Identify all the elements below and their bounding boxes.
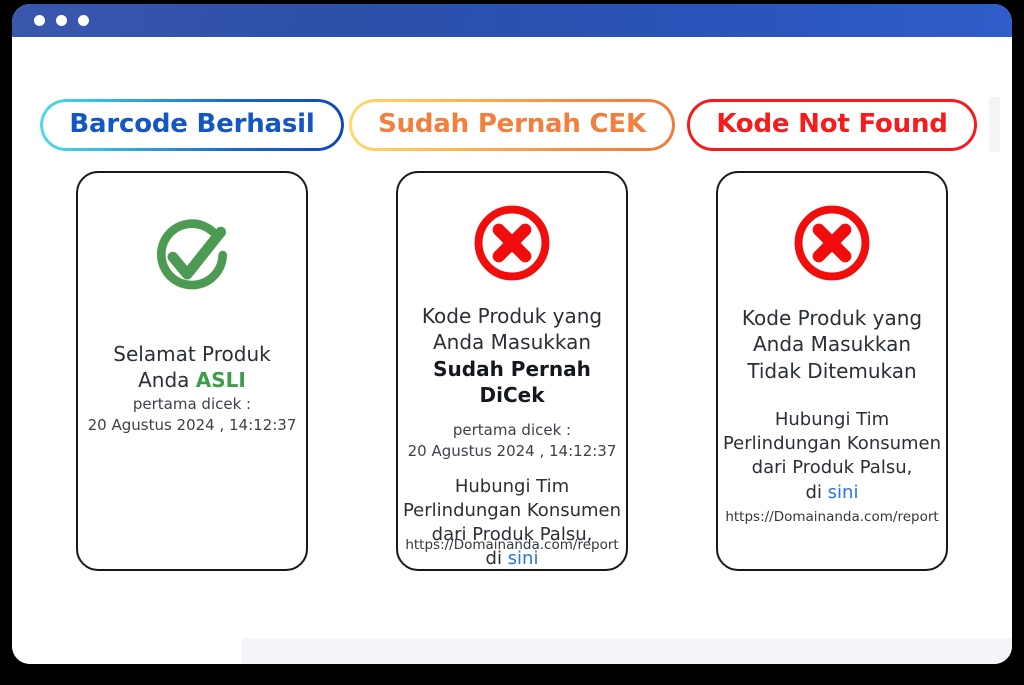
headline-line-1: Kode Produk yang	[398, 303, 626, 329]
status-pill-kode-not-found[interactable]: Kode Not Found	[687, 99, 976, 151]
browser-titlebar	[12, 4, 1012, 37]
first-checked-block: pertama dicek : 20 Agustus 2024 , 14:12:…	[88, 394, 297, 437]
contact-line-1: Hubungi Tim	[403, 475, 621, 499]
contact-line-2: Perlindungan Konsumen	[723, 432, 941, 456]
headline-line-3-bold: Sudah Pernah DiCek	[398, 356, 626, 409]
contact-line-1: Hubungi Tim	[723, 408, 941, 432]
check-circle-icon	[144, 209, 240, 309]
report-link-sini[interactable]: sini	[828, 482, 859, 503]
first-checked-value: 20 Agustus 2024 , 14:12:37	[408, 441, 617, 462]
contact-line-3: dari Produk Palsu,	[723, 456, 941, 480]
contact-line-2: Perlindungan Konsumen	[403, 499, 621, 523]
headline-line-2-prefix: Anda	[138, 368, 196, 392]
headline-line-1: Selamat Produk	[113, 341, 270, 367]
status-card-columns: Barcode Berhasil Selamat Produk Anda ASL…	[12, 37, 1012, 664]
status-pill-barcode-berhasil[interactable]: Barcode Berhasil	[40, 99, 343, 151]
x-circle-icon	[468, 199, 556, 291]
first-checked-value: 20 Agustus 2024 , 14:12:37	[88, 415, 297, 436]
first-checked-label: pertama dicek :	[88, 394, 297, 415]
contact-line-4-prefix: di	[806, 482, 828, 503]
column-sudah-pernah-cek: Sudah Pernah CEK Kode Produk yang Anda M…	[362, 99, 662, 664]
headline-line-2: Anda ASLI	[113, 367, 270, 393]
headline-line-2: Anda Masukkan	[398, 329, 626, 355]
window-dot-1[interactable]	[34, 15, 45, 26]
headline-line-2: Anda Masukkan	[742, 331, 922, 357]
headline-highlight-asli: ASLI	[196, 368, 246, 392]
window-dot-3[interactable]	[78, 15, 89, 26]
contact-line-4: di sini	[723, 481, 941, 505]
result-card-not-found: Kode Produk yang Anda Masukkan Tidak Dit…	[716, 171, 948, 571]
first-checked-block: pertama dicek : 20 Agustus 2024 , 14:12:…	[408, 420, 617, 463]
headline-line-3: Tidak Ditemukan	[742, 358, 922, 384]
contact-block: Hubungi Tim Perlindungan Konsumen dari P…	[403, 475, 621, 571]
column-barcode-berhasil: Barcode Berhasil Selamat Produk Anda ASL…	[42, 99, 342, 664]
status-pill-sudah-pernah-cek[interactable]: Sudah Pernah CEK	[349, 99, 675, 151]
x-circle-icon	[788, 199, 876, 291]
headline-line-1: Kode Produk yang	[742, 305, 922, 331]
window-dot-2[interactable]	[56, 15, 67, 26]
page-content: Barcode Berhasil Selamat Produk Anda ASL…	[12, 37, 1012, 664]
result-card-sudah-dicek: Kode Produk yang Anda Masukkan Sudah Per…	[396, 171, 628, 571]
first-checked-label: pertama dicek :	[408, 420, 617, 441]
report-url[interactable]: https://Domainanda.com/report	[405, 537, 618, 553]
contact-block: Hubungi Tim Perlindungan Konsumen dari P…	[723, 408, 941, 504]
result-card-asli: Selamat Produk Anda ASLI pertama dicek :…	[76, 171, 308, 571]
report-url[interactable]: https://Domainanda.com/report	[725, 509, 938, 525]
browser-window: Barcode Berhasil Selamat Produk Anda ASL…	[12, 4, 1012, 664]
column-kode-not-found: Kode Not Found Kode Produk yang Anda Mas…	[682, 99, 982, 664]
